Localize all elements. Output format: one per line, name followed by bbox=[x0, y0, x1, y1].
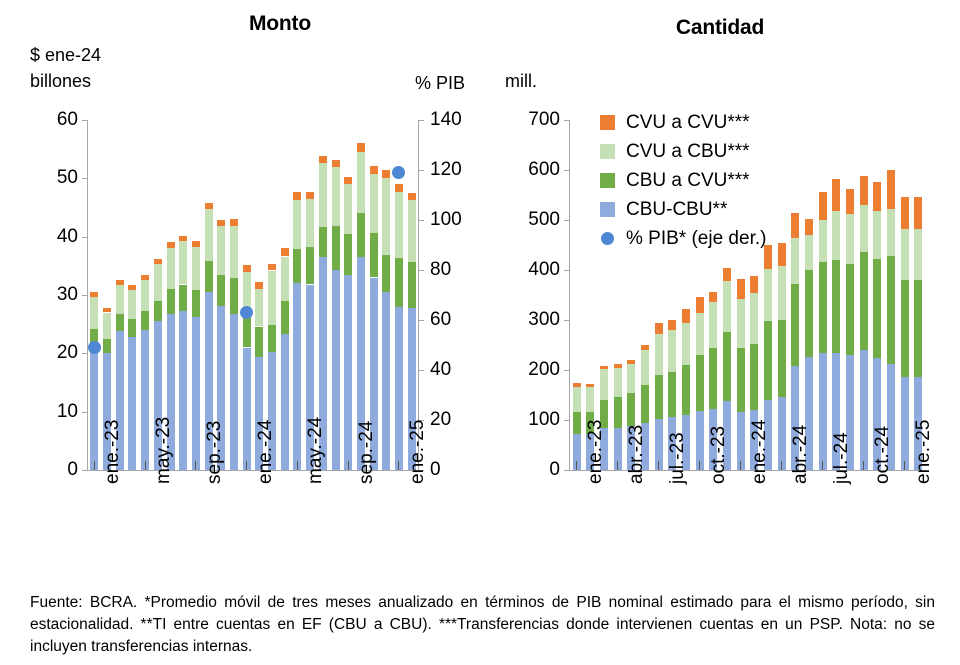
bar-segment bbox=[90, 297, 98, 329]
bar-segment bbox=[205, 261, 213, 292]
bar-column bbox=[293, 120, 301, 470]
bar-segment bbox=[778, 266, 786, 320]
x-axis-tick bbox=[348, 461, 349, 470]
bar-segment bbox=[614, 364, 622, 368]
x-axis-tick-label: oct.-23 bbox=[708, 426, 730, 484]
x-axis-tick bbox=[658, 461, 659, 470]
x-axis-tick bbox=[195, 461, 196, 470]
legend: CVU a CVU***CVU a CBU***CBU a CVU***CBU-… bbox=[600, 108, 766, 253]
bar-column bbox=[382, 120, 390, 470]
bar-segment bbox=[255, 289, 263, 327]
x-axis-tick-label: ene.-25 bbox=[407, 420, 429, 484]
bar-segment bbox=[901, 229, 909, 280]
bar-segment bbox=[141, 275, 149, 280]
bar-segment bbox=[655, 375, 663, 419]
bar-segment bbox=[154, 259, 162, 264]
bar-column bbox=[103, 120, 111, 470]
x-axis-tick bbox=[398, 461, 399, 470]
y-axis-tick-label: 50 bbox=[10, 167, 78, 189]
y2-axis-tick bbox=[418, 120, 424, 121]
bar-segment bbox=[914, 229, 922, 280]
legend-item-label: % PIB* (eje der.) bbox=[626, 228, 766, 250]
bar-column bbox=[805, 120, 813, 470]
y2-axis-tick bbox=[418, 170, 424, 171]
y-axis-tick bbox=[82, 237, 88, 238]
bar-segment bbox=[791, 213, 799, 238]
bar-column bbox=[357, 120, 365, 470]
bar-segment bbox=[408, 262, 416, 308]
bar-segment bbox=[116, 280, 124, 285]
y-axis-tick bbox=[82, 470, 88, 471]
bar-column bbox=[243, 120, 251, 470]
y-axis-tick-label: 20 bbox=[10, 342, 78, 364]
bar-segment bbox=[370, 166, 378, 174]
bar-segment bbox=[395, 192, 403, 257]
bar-segment bbox=[319, 163, 327, 227]
bar-segment bbox=[696, 313, 704, 356]
bar-segment bbox=[846, 264, 854, 355]
y-axis-tick bbox=[564, 170, 570, 171]
bar-segment bbox=[357, 213, 365, 257]
bar-segment bbox=[778, 320, 786, 397]
bar-column bbox=[179, 120, 187, 470]
bar-column bbox=[901, 120, 909, 470]
y-axis-tick bbox=[82, 178, 88, 179]
bar-column bbox=[832, 120, 840, 470]
x-axis-tick bbox=[576, 461, 577, 470]
bar-segment bbox=[103, 313, 111, 339]
bar-segment bbox=[901, 377, 909, 470]
y2-axis-tick bbox=[418, 370, 424, 371]
bar-column bbox=[860, 120, 868, 470]
bar-segment bbox=[344, 275, 352, 470]
bar-segment bbox=[370, 233, 378, 278]
x-axis-tick-label: ene.-25 bbox=[913, 420, 935, 484]
bar-segment bbox=[281, 248, 289, 256]
y2-axis-tick-label: 120 bbox=[430, 159, 462, 181]
bar-segment bbox=[873, 211, 881, 260]
bar-segment bbox=[128, 285, 136, 290]
bar-segment bbox=[600, 366, 608, 370]
bar-column bbox=[846, 120, 854, 470]
y-axis-tick-label: 400 bbox=[492, 259, 560, 281]
y2-axis-tick bbox=[418, 220, 424, 221]
bar-column bbox=[914, 120, 922, 470]
bar-segment bbox=[832, 260, 840, 353]
bar-column bbox=[230, 120, 238, 470]
footnote-source-note: Fuente: BCRA. *Promedio móvil de tres me… bbox=[30, 592, 935, 658]
bar-segment bbox=[819, 220, 827, 262]
bar-segment bbox=[167, 248, 175, 289]
bar-column bbox=[344, 120, 352, 470]
bar-segment bbox=[230, 278, 238, 314]
y2-axis-tick-label: 0 bbox=[430, 459, 441, 481]
bar-segment bbox=[357, 143, 365, 152]
x-axis-tick-label: ene.-23 bbox=[102, 420, 124, 484]
bar-column bbox=[205, 120, 213, 470]
bar-segment bbox=[860, 252, 868, 351]
bar-segment bbox=[192, 247, 200, 290]
legend-swatch-icon bbox=[600, 144, 615, 159]
bar-segment bbox=[573, 383, 581, 387]
left-axis-unit-label: $ ene-24 billones bbox=[30, 42, 101, 94]
x-axis-tick bbox=[246, 461, 247, 470]
x-axis-tick-label: abr.-24 bbox=[790, 425, 812, 484]
legend-item[interactable]: CBU-CBU** bbox=[600, 195, 766, 224]
x-axis-tick-label: oct.-24 bbox=[872, 426, 894, 484]
bar-segment bbox=[778, 243, 786, 266]
bar-segment bbox=[641, 385, 649, 423]
y-axis-tick-label: 0 bbox=[492, 459, 560, 481]
bar-segment bbox=[627, 393, 635, 427]
y-axis-tick-label: 200 bbox=[492, 359, 560, 381]
y-axis-tick bbox=[82, 412, 88, 413]
bar-segment bbox=[846, 189, 854, 214]
legend-item-label: CBU a CVU*** bbox=[626, 170, 750, 192]
bar-segment bbox=[901, 197, 909, 229]
y2-axis-tick-label: 140 bbox=[430, 109, 462, 131]
panel-title-cantidad: Cantidad bbox=[570, 16, 870, 40]
bar-segment bbox=[395, 307, 403, 470]
bar-segment bbox=[141, 330, 149, 470]
x-axis-tick bbox=[863, 461, 864, 470]
y2-axis-tick-label: 60 bbox=[430, 309, 451, 331]
bar-segment bbox=[319, 156, 327, 164]
bar-segment bbox=[819, 192, 827, 221]
bar-segment bbox=[832, 211, 840, 260]
bar-segment bbox=[382, 292, 390, 470]
bar-column bbox=[116, 120, 124, 470]
bar-segment bbox=[281, 257, 289, 302]
bar-segment bbox=[805, 235, 813, 270]
bar-segment bbox=[641, 350, 649, 385]
bar-segment bbox=[764, 269, 772, 322]
x-axis-tick-label: ene.-24 bbox=[255, 420, 277, 484]
bar-segment bbox=[154, 264, 162, 301]
legend-swatch-icon bbox=[600, 202, 615, 217]
y-axis-tick bbox=[564, 320, 570, 321]
bar-segment bbox=[382, 178, 390, 255]
bar-segment bbox=[668, 320, 676, 330]
y-axis-tick bbox=[564, 270, 570, 271]
x-axis-tick bbox=[297, 461, 298, 470]
bar-segment bbox=[344, 234, 352, 275]
bar-column bbox=[370, 120, 378, 470]
bar-segment bbox=[627, 360, 635, 364]
bar-column bbox=[255, 120, 263, 470]
bar-segment bbox=[90, 348, 98, 471]
bar-segment bbox=[914, 280, 922, 377]
bar-segment bbox=[230, 219, 238, 226]
bar-segment bbox=[887, 256, 895, 365]
y2-axis-line bbox=[418, 120, 419, 470]
bar-segment bbox=[709, 302, 717, 348]
bar-segment bbox=[805, 270, 813, 357]
bar-segment bbox=[192, 241, 200, 247]
bar-segment bbox=[306, 199, 314, 247]
bar-column bbox=[586, 120, 594, 470]
panel-title-monto: Monto bbox=[150, 12, 410, 36]
bar-column bbox=[128, 120, 136, 470]
bar-segment bbox=[332, 226, 340, 270]
bar-segment bbox=[192, 317, 200, 470]
x-axis-tick-label: ene.-23 bbox=[585, 420, 607, 484]
x-axis-tick bbox=[145, 461, 146, 470]
y-axis-tick bbox=[82, 295, 88, 296]
x-axis-tick bbox=[617, 461, 618, 470]
bar-segment bbox=[179, 311, 187, 470]
y-axis-tick bbox=[564, 370, 570, 371]
bar-segment bbox=[319, 227, 327, 257]
y2-axis-tick-label: 100 bbox=[430, 209, 462, 231]
bar-segment bbox=[141, 280, 149, 311]
bar-segment bbox=[243, 265, 251, 272]
bar-segment bbox=[293, 283, 301, 470]
y-axis-tick-label: 40 bbox=[10, 226, 78, 248]
y-axis-line bbox=[569, 120, 570, 470]
bar-segment bbox=[293, 249, 301, 283]
legend-item[interactable]: % PIB* (eje der.) bbox=[600, 224, 766, 253]
bar-segment bbox=[293, 200, 301, 249]
bar-segment bbox=[860, 205, 868, 252]
bar-segment bbox=[832, 179, 840, 212]
bar-segment bbox=[217, 220, 225, 226]
bar-segment bbox=[750, 344, 758, 410]
bar-segment bbox=[573, 387, 581, 412]
bar-segment bbox=[750, 293, 758, 344]
bar-segment bbox=[205, 203, 213, 209]
bar-segment bbox=[344, 177, 352, 184]
y-axis-tick-label: 700 bbox=[492, 109, 560, 131]
bar-segment bbox=[791, 284, 799, 367]
bar-segment bbox=[668, 330, 676, 373]
y-axis-tick bbox=[82, 120, 88, 121]
y-axis-tick-label: 300 bbox=[492, 309, 560, 331]
bar-column bbox=[332, 120, 340, 470]
bar-segment bbox=[805, 219, 813, 235]
bar-segment bbox=[819, 353, 827, 470]
bar-column bbox=[408, 120, 416, 470]
bar-segment bbox=[887, 170, 895, 210]
bar-segment bbox=[887, 209, 895, 256]
legend-item-label: CVU a CVU*** bbox=[626, 112, 750, 134]
bar-segment bbox=[846, 214, 854, 264]
y-axis-tick-label: 600 bbox=[492, 159, 560, 181]
bar-segment bbox=[750, 276, 758, 294]
bar-segment bbox=[914, 197, 922, 229]
bar-segment bbox=[641, 345, 649, 350]
legend-item[interactable]: CBU a CVU*** bbox=[600, 166, 766, 195]
bar-segment bbox=[709, 292, 717, 303]
bar-segment bbox=[655, 334, 663, 376]
bar-segment bbox=[281, 334, 289, 470]
bar-segment bbox=[167, 289, 175, 314]
bar-segment bbox=[682, 365, 690, 415]
bar-segment bbox=[179, 285, 187, 311]
legend-swatch-icon bbox=[600, 115, 615, 130]
bar-segment bbox=[573, 412, 581, 435]
bar-segment bbox=[243, 348, 251, 471]
bar-segment bbox=[764, 321, 772, 400]
legend-item[interactable]: CVU a CVU*** bbox=[600, 108, 766, 137]
x-axis-tick-label: may.-24 bbox=[305, 417, 327, 484]
bar-segment bbox=[281, 301, 289, 334]
y2-axis-tick-label: 80 bbox=[430, 259, 451, 281]
bar-segment bbox=[205, 209, 213, 262]
bar-segment bbox=[395, 184, 403, 192]
pib-overlay-dot bbox=[240, 306, 253, 319]
x-axis-tick-label: may.-23 bbox=[153, 417, 175, 484]
bar-segment bbox=[819, 262, 827, 353]
bar-segment bbox=[255, 282, 263, 288]
bar-segment bbox=[332, 160, 340, 167]
bar-column bbox=[873, 120, 881, 470]
x-axis-tick-label: sep.-23 bbox=[204, 421, 226, 484]
x-axis-tick bbox=[904, 461, 905, 470]
x-axis-tick bbox=[740, 461, 741, 470]
bar-segment bbox=[696, 355, 704, 411]
bar-segment bbox=[382, 170, 390, 178]
bar-segment bbox=[268, 271, 276, 326]
pib-overlay-dot bbox=[88, 341, 101, 354]
bar-segment bbox=[737, 279, 745, 300]
y-axis-tick bbox=[564, 220, 570, 221]
x-axis-tick bbox=[94, 461, 95, 470]
bar-segment bbox=[709, 348, 717, 409]
bar-segment bbox=[901, 280, 909, 377]
bar-column bbox=[281, 120, 289, 470]
bar-segment bbox=[128, 290, 136, 319]
bar-segment bbox=[655, 323, 663, 334]
bar-segment bbox=[737, 299, 745, 348]
y-axis-tick bbox=[564, 120, 570, 121]
bar-segment bbox=[192, 290, 200, 317]
bar-segment bbox=[586, 387, 594, 412]
bar-column bbox=[141, 120, 149, 470]
bar-column bbox=[573, 120, 581, 470]
bar-segment bbox=[128, 337, 136, 470]
bar-segment bbox=[344, 184, 352, 234]
bar-segment bbox=[682, 323, 690, 366]
bar-segment bbox=[873, 182, 881, 211]
bar-segment bbox=[154, 301, 162, 321]
x-axis-tick-label: abr.-23 bbox=[626, 425, 648, 484]
bar-segment bbox=[332, 270, 340, 470]
pib-overlay-dot bbox=[392, 166, 405, 179]
legend-item-label: CVU a CBU*** bbox=[626, 141, 750, 163]
x-axis-tick-label: jul.-24 bbox=[831, 432, 853, 484]
right-axis-unit-label: mill. bbox=[505, 68, 537, 94]
bar-column bbox=[90, 120, 98, 470]
bar-column bbox=[217, 120, 225, 470]
bar-segment bbox=[179, 236, 187, 242]
x-axis-tick-label: jul.-23 bbox=[667, 432, 689, 484]
bar-segment bbox=[395, 258, 403, 307]
bar-segment bbox=[116, 285, 124, 314]
bar-segment bbox=[614, 397, 622, 429]
x-axis-tick bbox=[822, 461, 823, 470]
y-axis-tick-label: 60 bbox=[10, 109, 78, 131]
x-axis-tick bbox=[781, 461, 782, 470]
bar-segment bbox=[167, 242, 175, 248]
bar-column bbox=[791, 120, 799, 470]
bar-segment bbox=[306, 247, 314, 284]
bar-segment bbox=[179, 241, 187, 284]
bar-column bbox=[192, 120, 200, 470]
bar-segment bbox=[268, 264, 276, 270]
x-axis-tick bbox=[699, 461, 700, 470]
bar-segment bbox=[382, 255, 390, 292]
bar-segment bbox=[723, 332, 731, 401]
bar-column bbox=[819, 120, 827, 470]
y-axis-tick bbox=[564, 420, 570, 421]
y-axis-tick bbox=[564, 470, 570, 471]
y-axis-tick-label: 10 bbox=[10, 401, 78, 423]
bar-segment bbox=[682, 309, 690, 323]
bar-segment bbox=[737, 348, 745, 413]
bar-segment bbox=[860, 350, 868, 470]
bar-segment bbox=[370, 174, 378, 232]
bar-segment bbox=[230, 314, 238, 470]
bar-segment bbox=[586, 384, 594, 388]
bar-segment bbox=[116, 314, 124, 331]
y2-axis-tick-label: 40 bbox=[430, 359, 451, 381]
bar-segment bbox=[103, 308, 111, 313]
legend-item[interactable]: CVU a CBU*** bbox=[600, 137, 766, 166]
bar-segment bbox=[128, 319, 136, 337]
y2-axis-tick bbox=[418, 270, 424, 271]
legend-item-label: CBU-CBU** bbox=[626, 199, 727, 221]
bar-column bbox=[778, 120, 786, 470]
bar-segment bbox=[293, 192, 301, 200]
bar-segment bbox=[103, 339, 111, 354]
legend-swatch-icon bbox=[600, 173, 615, 188]
bar-segment bbox=[217, 226, 225, 274]
bar-segment bbox=[217, 275, 225, 307]
bar-segment bbox=[723, 281, 731, 333]
bar-segment bbox=[408, 200, 416, 262]
x-axis-tick-label: ene.-24 bbox=[749, 420, 771, 484]
bar-segment bbox=[791, 238, 799, 284]
legend-dot-icon bbox=[601, 232, 614, 245]
chart-monto: 0102030405060020406080100120140ene.-23ma… bbox=[88, 120, 418, 470]
bar-segment bbox=[306, 192, 314, 200]
chart-figure: Monto Cantidad $ ene-24 billones % PIB m… bbox=[0, 0, 960, 665]
bar-segment bbox=[723, 268, 731, 281]
bar-segment bbox=[614, 368, 622, 397]
bar-segment bbox=[860, 176, 868, 206]
bar-segment bbox=[90, 292, 98, 297]
bar-segment bbox=[268, 325, 276, 351]
bar-segment bbox=[873, 259, 881, 358]
left-secondary-axis-unit-label: % PIB bbox=[415, 70, 465, 96]
bar-segment bbox=[668, 372, 676, 417]
bar-segment bbox=[357, 152, 365, 214]
y-axis-tick bbox=[82, 353, 88, 354]
bar-segment bbox=[332, 167, 340, 227]
bar-segment bbox=[141, 311, 149, 330]
y-axis-tick-label: 500 bbox=[492, 209, 560, 231]
bar-segment bbox=[696, 297, 704, 313]
x-axis-tick-label: sep.-24 bbox=[356, 421, 378, 484]
bar-segment bbox=[627, 364, 635, 393]
y-axis-tick-label: 30 bbox=[10, 284, 78, 306]
y2-axis-tick bbox=[418, 320, 424, 321]
bar-segment bbox=[255, 327, 263, 358]
y2-axis-tick-label: 20 bbox=[430, 409, 451, 431]
y-axis-tick-label: 0 bbox=[10, 459, 78, 481]
bar-segment bbox=[600, 369, 608, 400]
